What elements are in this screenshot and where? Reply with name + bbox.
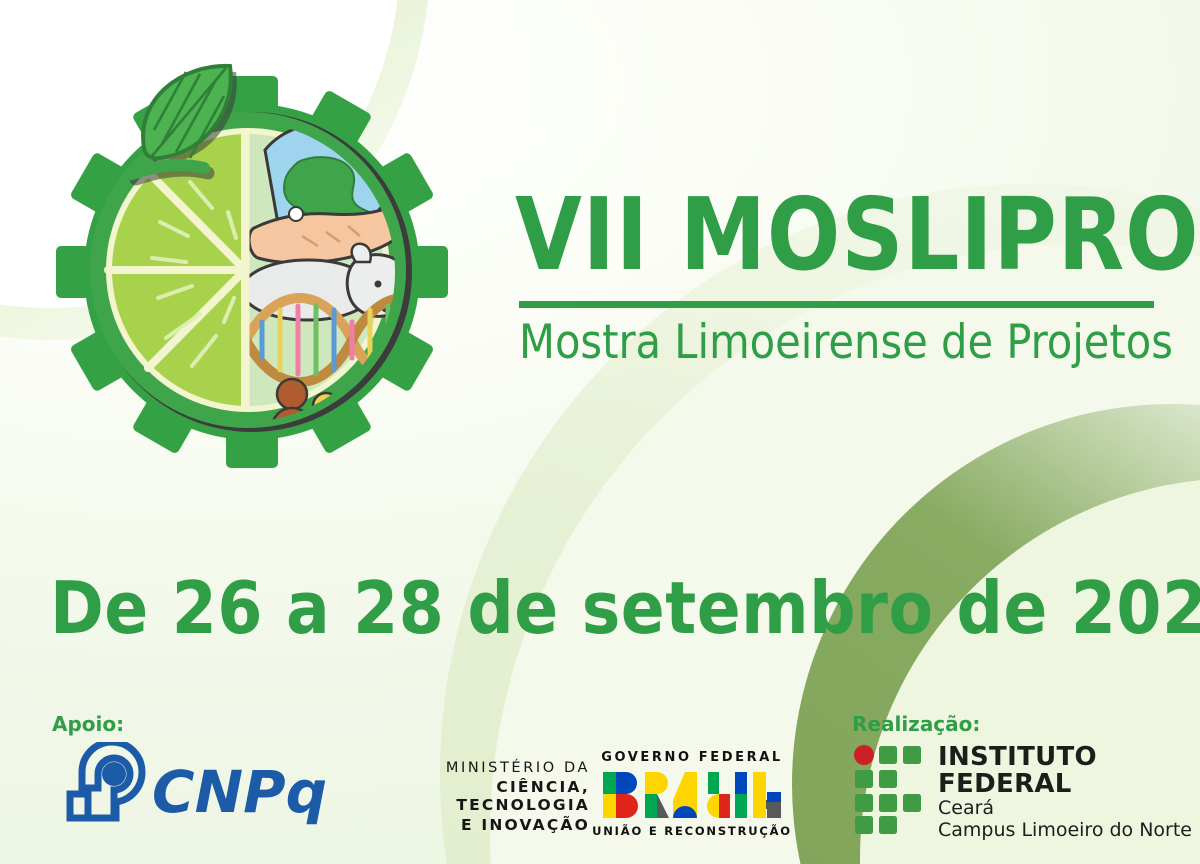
governo-federal-logo: GOVERNO FEDERAL [592, 750, 792, 838]
svg-text:CNPq: CNPq [152, 758, 327, 826]
event-poster: VII MOSLIPRO Mostra Limoeirense de Proje… [0, 0, 1200, 864]
title-divider [519, 301, 1154, 308]
event-date: De 26 a 28 de setembro de 2023 [50, 572, 1160, 644]
if-line-1: INSTITUTO FEDERAL [938, 744, 1200, 798]
brasil-wordmark [601, 770, 783, 820]
page-title: VII MOSLIPRO [515, 185, 1139, 285]
realizacao-label: Realização: [852, 712, 1200, 736]
governo-federal-label: GOVERNO FEDERAL [592, 750, 792, 765]
uniao-reconstrucao-label: UNIÃO E RECONSTRUÇÃO [592, 824, 792, 838]
moslipro-logo [40, 22, 520, 542]
title-block: VII MOSLIPRO Mostra Limoeirense de Proje… [515, 185, 1165, 367]
ministerio-line-1: MINISTÉRIO DA [375, 760, 590, 776]
page-subtitle: Mostra Limoeirense de Projetos [519, 318, 1155, 367]
cnpq-logo: CNPq [52, 742, 327, 826]
ministerio-logo: MINISTÉRIO DA CIÊNCIA, TECNOLOGIA E INOV… [375, 760, 590, 834]
if-grid-icon [852, 744, 924, 836]
apoio-label: Apoio: [52, 712, 327, 736]
realizacao-section: Realização: [852, 712, 1200, 842]
instituto-federal-text: INSTITUTO FEDERAL Ceará Campus Limoeiro … [938, 744, 1200, 842]
ministerio-line-3: E INOVAÇÃO [375, 816, 590, 834]
ministerio-line-2: CIÊNCIA, TECNOLOGIA [375, 778, 590, 814]
apoio-section: Apoio: CNPq [52, 712, 327, 826]
instituto-federal-logo: INSTITUTO FEDERAL Ceará Campus Limoeiro … [852, 744, 1200, 842]
if-line-3: Campus Limoeiro do Norte [938, 820, 1200, 842]
footer: Apoio: CNPq MINISTÉRIO DA CIÊNCIA, TECNO… [0, 700, 1200, 864]
if-line-2: Ceará [938, 798, 1200, 820]
